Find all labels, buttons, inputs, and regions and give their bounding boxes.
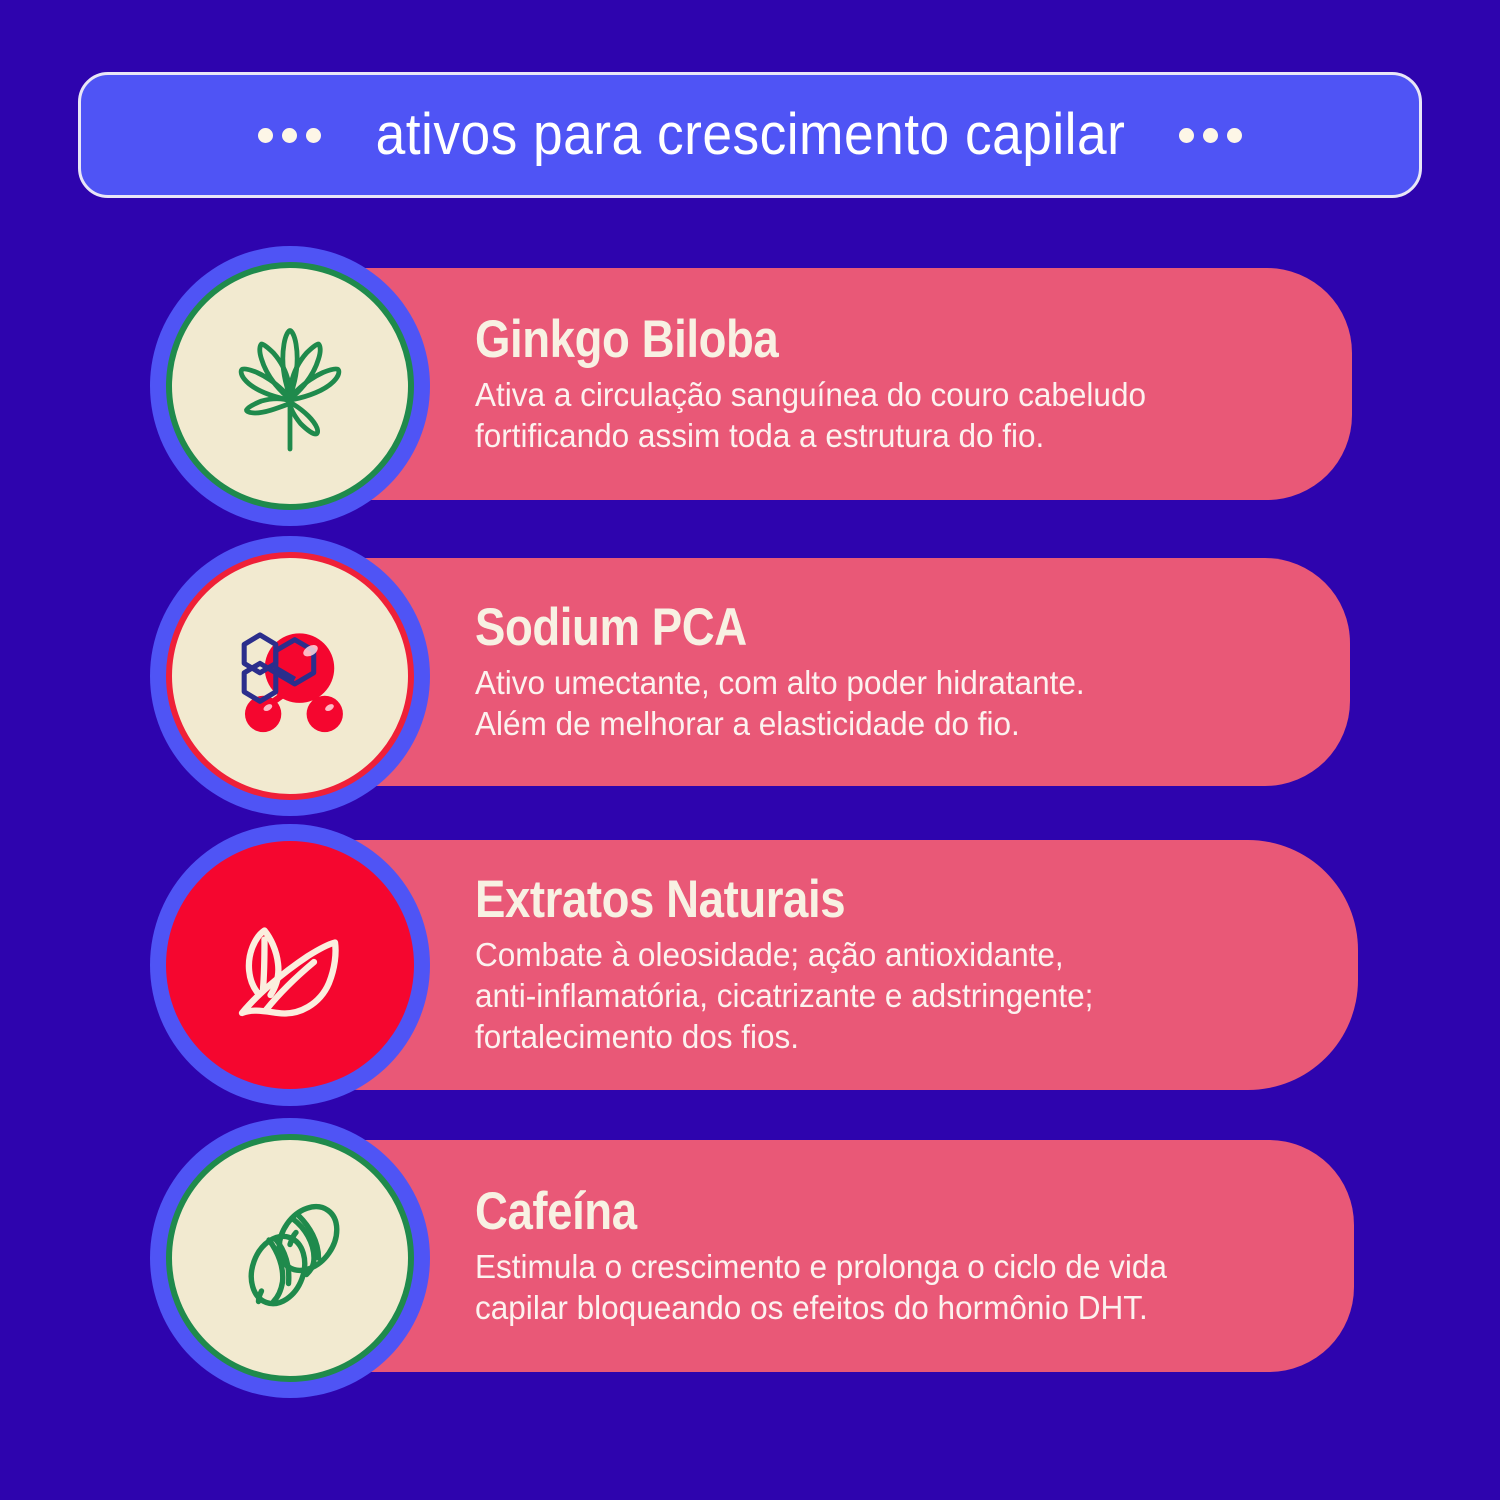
list-item: Cafeína Estimula o crescimento e prolong… — [0, 1118, 1500, 1408]
coffee-beans-icon — [166, 1134, 414, 1382]
list-item: Sodium PCA Ativo umectante, com alto pod… — [0, 536, 1500, 826]
desc-line: capilar bloqueando os efeitos do hormôni… — [475, 1288, 1272, 1329]
ingredient-card-list: Ginkgo Biloba Ativa a circulação sanguín… — [0, 246, 1500, 1408]
card-description: Estimula o crescimento e prolonga o cicl… — [475, 1247, 1272, 1329]
header-banner: ativos para crescimento capilar — [78, 72, 1422, 198]
desc-line: Ativa a circulação sanguínea do couro ca… — [475, 375, 1271, 416]
desc-line: fortalecimento dos fios. — [475, 1017, 1276, 1058]
desc-line: Além de melhorar a elasticidade do fio. — [475, 704, 1269, 745]
desc-line: anti-inflamatória, cicatrizante e adstri… — [475, 976, 1276, 1017]
desc-line: Ativo umectante, com alto poder hidratan… — [475, 663, 1269, 704]
dot — [1179, 128, 1194, 143]
card-description: Combate à oleosidade; ação antioxidante,… — [475, 935, 1276, 1058]
icon-medallion — [150, 246, 430, 526]
dot — [306, 128, 321, 143]
dot — [1227, 128, 1242, 143]
card-description: Ativa a circulação sanguínea do couro ca… — [475, 375, 1271, 457]
card-title: Extratos Naturais — [475, 872, 1197, 927]
icon-medallion — [150, 824, 430, 1106]
list-item: Extratos Naturais Combate à oleosidade; … — [0, 826, 1500, 1118]
three-dots-icon-left — [258, 128, 321, 143]
icon-medallion — [150, 536, 430, 816]
desc-line: Combate à oleosidade; ação antioxidante, — [475, 935, 1276, 976]
icon-medallion — [150, 1118, 430, 1398]
leaf-ginkgo-icon — [166, 262, 414, 510]
list-item: Ginkgo Biloba Ativa a circulação sanguín… — [0, 246, 1500, 536]
desc-line: fortificando assim toda a estrutura do f… — [475, 416, 1271, 457]
dot — [1203, 128, 1218, 143]
page-title: ativos para crescimento capilar — [375, 106, 1125, 164]
card-title: Sodium PCA — [475, 600, 1190, 655]
two-leaves-icon — [166, 841, 414, 1089]
desc-line: Estimula o crescimento e prolonga o cicl… — [475, 1247, 1272, 1288]
molecule-icon — [166, 552, 414, 800]
card-title: Ginkgo Biloba — [475, 312, 1191, 367]
dot — [282, 128, 297, 143]
card-description: Ativo umectante, com alto poder hidratan… — [475, 663, 1269, 745]
card-title: Cafeína — [475, 1184, 1193, 1239]
three-dots-icon-right — [1179, 128, 1242, 143]
dot — [258, 128, 273, 143]
